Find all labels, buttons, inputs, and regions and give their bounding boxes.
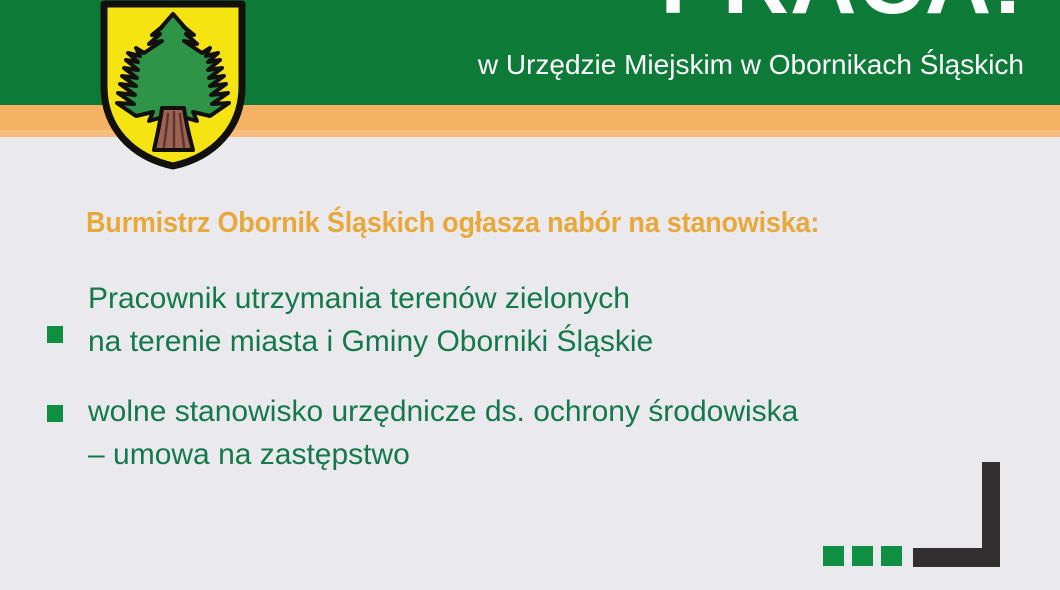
job-title: Pracownik utrzymania terenów zielonych n… xyxy=(88,278,1000,363)
decorative-square xyxy=(881,546,902,566)
list-item: wolne stanowisko urzędnicze ds. ochrony … xyxy=(0,391,1000,476)
job-title-line: na terenie miasta i Gminy Oborniki Śląsk… xyxy=(88,321,1000,364)
job-list: Pracownik utrzymania terenów zielonych n… xyxy=(0,278,1000,504)
job-title-line: wolne stanowisko urzędnicze ds. ochrony … xyxy=(88,391,1000,434)
corner-bracket-horizontal xyxy=(913,548,1000,567)
page-subtitle: w Urzędzie Miejskim w Obornikach Śląskic… xyxy=(478,50,1024,81)
job-title-line: – umowa na zastępstwo xyxy=(88,434,1000,477)
job-title-line: Pracownik utrzymania terenów zielonych xyxy=(88,278,1000,321)
bullet-square-icon xyxy=(47,326,63,343)
coat-of-arms-icon xyxy=(98,0,248,175)
list-item: Pracownik utrzymania terenów zielonych n… xyxy=(0,278,1000,363)
page-title: PRACA! xyxy=(660,0,1024,28)
decorative-square xyxy=(852,546,873,566)
job-announcement-poster: PRACA! w Urzędzie Miejskim w Obornikach … xyxy=(0,0,1060,590)
job-title: wolne stanowisko urzędnicze ds. ochrony … xyxy=(88,391,1000,476)
crest-block: GMINA OBORNIKI ŚLĄSKIE xyxy=(88,0,258,186)
decorative-squares xyxy=(823,546,902,566)
corner-bracket-decoration xyxy=(913,462,1000,567)
decorative-square xyxy=(823,546,844,566)
bullet-square-icon xyxy=(47,405,63,422)
announcement-lead: Burmistrz Obornik Śląskich ogłasza nabór… xyxy=(86,207,819,240)
